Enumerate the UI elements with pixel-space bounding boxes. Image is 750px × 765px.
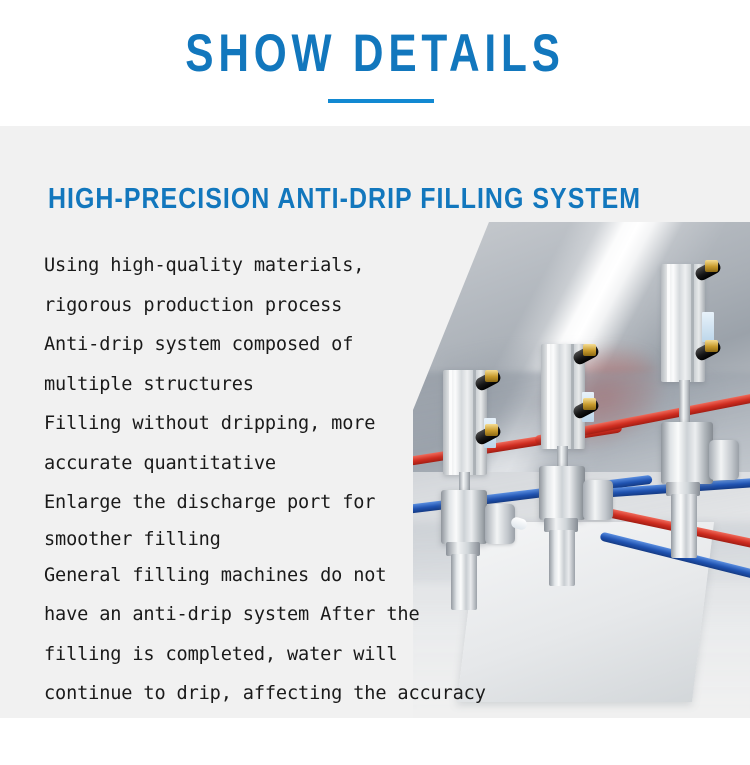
- title-underline: [328, 99, 434, 103]
- description-line: have an anti-drip system After the: [44, 595, 514, 635]
- page-title: SHOW DETAILS: [75, 27, 675, 81]
- brass-fitting: [705, 340, 718, 352]
- discharge-nozzle: [671, 494, 697, 558]
- description-line: General filling machines do not: [44, 556, 514, 596]
- description-line: continue to drip, affecting the accuracy: [44, 674, 514, 714]
- detail-panel: HIGH-PRECISION ANTI-DRIP FILLING SYSTEM …: [0, 126, 750, 718]
- page-header: SHOW DETAILS: [0, 0, 750, 126]
- brass-fitting: [583, 344, 596, 356]
- description-line: multiple structures: [44, 365, 514, 405]
- brass-fitting: [705, 260, 718, 272]
- description-line: smoother filling: [44, 523, 514, 556]
- description-line: Using high-quality materials,: [44, 246, 514, 286]
- pneumatic-cylinder: [661, 264, 705, 382]
- description-line: Enlarge the discharge port for: [44, 483, 514, 523]
- description-line: Anti-drip system composed of: [44, 325, 514, 365]
- valve-body: [539, 466, 585, 520]
- description-line: filling is completed, water will: [44, 635, 514, 675]
- sanitary-clamp: [709, 440, 739, 480]
- valve-body: [661, 422, 713, 484]
- description-line: rigorous production process: [44, 286, 514, 326]
- brass-fitting: [583, 398, 596, 410]
- description-line: accurate quantitative: [44, 444, 514, 484]
- cylinder-label: [702, 312, 714, 342]
- section-title: HIGH-PRECISION ANTI-DRIP FILLING SYSTEM: [48, 184, 641, 214]
- description-text: Using high-quality materials, rigorous p…: [44, 246, 514, 714]
- description-line: Filling without dripping, more: [44, 404, 514, 444]
- discharge-nozzle: [549, 530, 575, 586]
- sanitary-clamp: [583, 480, 613, 520]
